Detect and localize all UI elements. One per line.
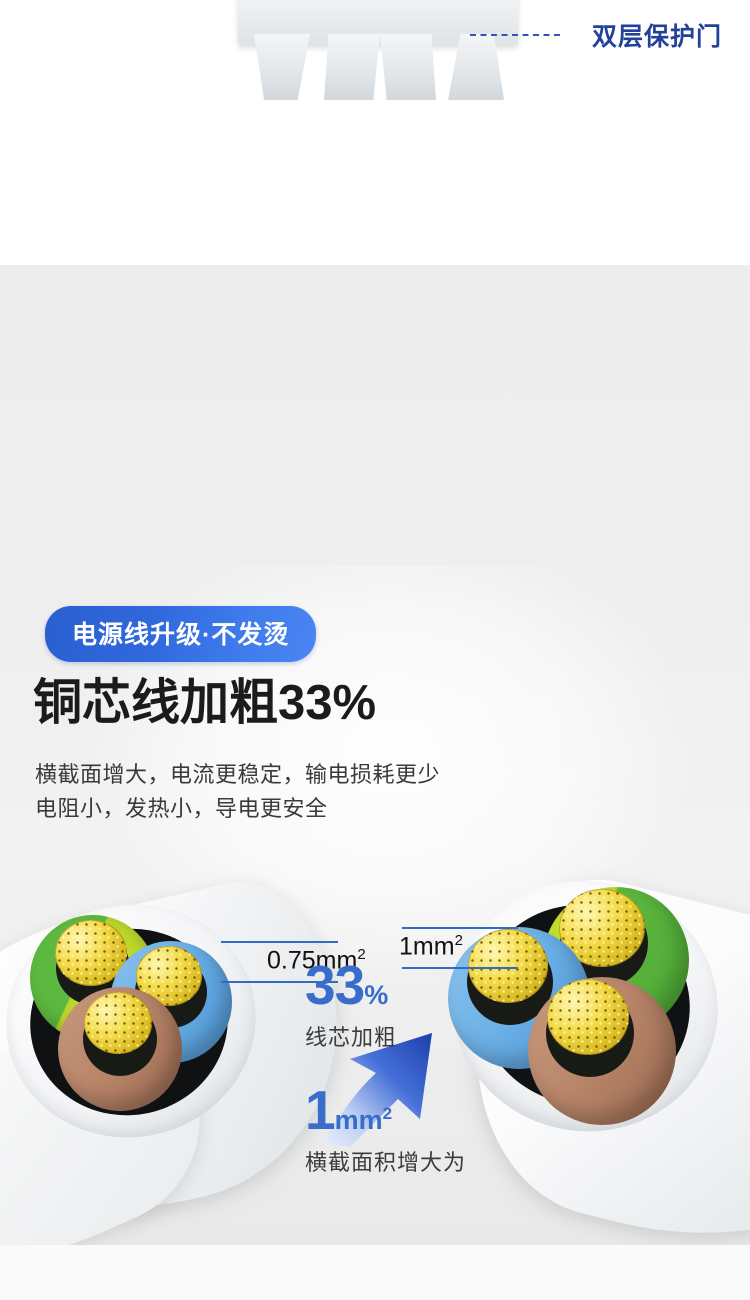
stat-core-thickness-caption: 线芯加粗: [305, 1020, 397, 1052]
old-core-live-strands: [84, 992, 152, 1054]
socket-feature-section: 双层保护门: [0, 0, 750, 265]
old-measure-line-top: [221, 941, 338, 943]
new-core-live-strands: [547, 979, 629, 1055]
section-subline-1: 横截面增大，电流更稳定，输电损耗更少: [35, 757, 440, 789]
new-measure-line-bottom: [402, 967, 518, 969]
stat-cross-section-unit: mm2: [335, 1105, 392, 1135]
stat-core-thickness-value: 33%: [305, 958, 397, 1013]
stat-cross-section-caption: 横截面积增大为: [305, 1145, 466, 1177]
feature-badge: 电源线升级·不发烫: [45, 606, 316, 662]
socket-cutaway-illustration: [228, 0, 528, 162]
stat-cross-section-exponent: 2: [383, 1104, 392, 1123]
new-measurement-value: 1mm: [399, 932, 455, 960]
section-headline: 铜芯线加粗33%: [33, 663, 376, 734]
stat-core-thickness-unit: %: [364, 980, 388, 1010]
section-subline-2: 电阻小，发热小，导电更安全: [35, 791, 328, 823]
stat-core-thickness: 33% 线芯加粗: [305, 958, 397, 1052]
strand-texture: [84, 992, 152, 1054]
bottom-spacer: [0, 1245, 750, 1300]
strand-texture: [547, 979, 629, 1055]
new-measurement-label: 1mm2: [399, 932, 463, 961]
socket-foot: [324, 34, 380, 100]
stat-cross-section-number: 1: [305, 1079, 335, 1141]
strand-texture: [468, 929, 548, 1003]
product-detail-page: 双层保护门 电源线升级·不发烫 铜芯线加粗33% 横截面增大，电流更稳定，输电损…: [0, 0, 750, 1300]
copper-wire-section: 电源线升级·不发烫 铜芯线加粗33% 横截面增大，电流更稳定，输电损耗更少 电阻…: [0, 265, 750, 1245]
stat-core-thickness-number: 33: [305, 954, 364, 1016]
stat-cross-section: 1mm2 横截面积增大为: [305, 1083, 466, 1177]
new-core-neutral-strands: [468, 929, 548, 1003]
callout-leader-line: [470, 34, 560, 36]
socket-foot: [380, 34, 436, 100]
socket-foot: [254, 34, 310, 100]
stat-cross-section-value: 1mm2: [305, 1083, 466, 1138]
socket-feature-label: 双层保护门: [592, 17, 722, 53]
stat-cross-section-unit-text: mm: [335, 1105, 383, 1135]
new-measure-line-top: [402, 927, 518, 929]
new-measurement-exponent: 2: [455, 932, 463, 949]
